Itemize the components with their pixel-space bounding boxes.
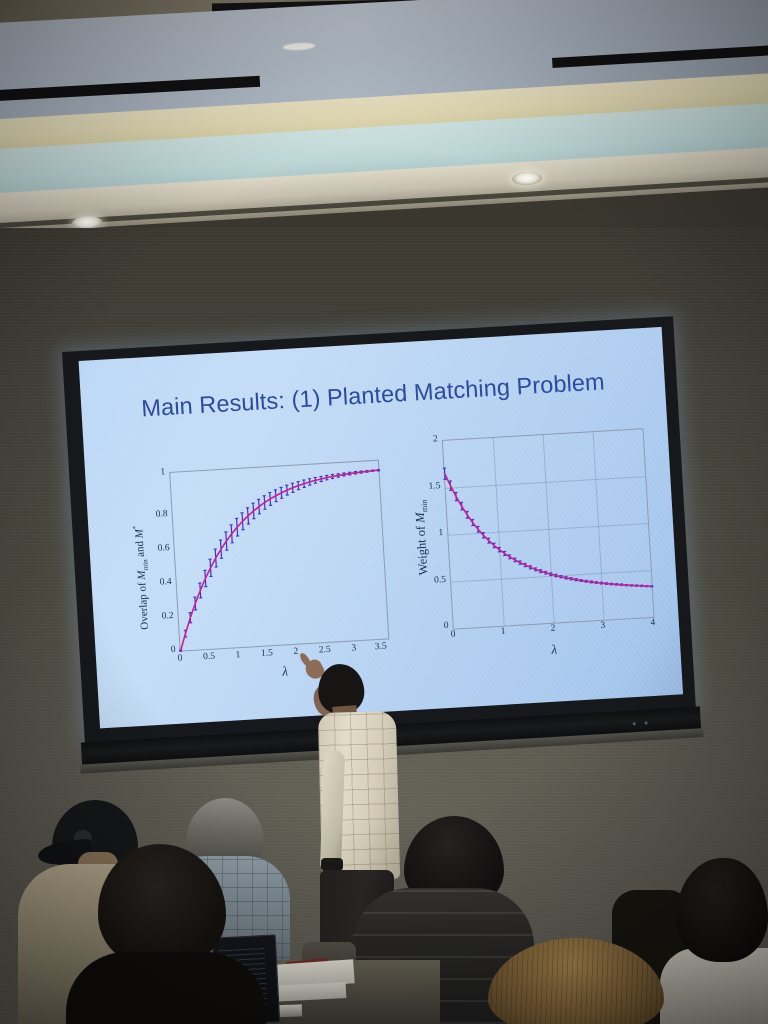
chart-right-ytick-15: 1.5 [414, 481, 441, 493]
chart-right-ytick-05: 0.5 [420, 575, 447, 587]
ylabel-text-a: Overlap of [136, 582, 151, 630]
chart-left-ytick-02: 0.2 [147, 611, 174, 623]
screen-bezel: Main Results: (1) Planted Matching Probl… [62, 316, 696, 743]
chart-left-xtick-0: 0 [168, 653, 193, 664]
ylabel-sym-m2: M [133, 529, 146, 539]
chart-left-xtick-35: 3.5 [369, 641, 394, 652]
chart-left-ytick-1: 1 [139, 467, 166, 479]
chart-right-xtick-4: 4 [641, 617, 666, 628]
chart-left-xtick-3: 3 [342, 643, 367, 654]
chart-right-xtick-2: 2 [541, 623, 566, 634]
chart-left-plot-area [169, 460, 389, 652]
chart-left-overlap: Overlap of Mmin and M* 0 0.2 0.4 [123, 455, 398, 692]
chart-right-ytick-2: 2 [411, 434, 438, 446]
ylabel-sym-m: M [413, 512, 428, 523]
ylabel-sub-min2: min [420, 499, 430, 512]
chart-right-plot-area [442, 428, 655, 629]
projection-screen-assembly: Main Results: (1) Planted Matching Probl… [62, 316, 697, 771]
slide-title: Main Results: (1) Planted Matching Probl… [81, 365, 666, 426]
ylabel-sub-min: min [141, 559, 150, 570]
chart-right-xtick-1: 1 [491, 626, 516, 637]
presentation-slide: Main Results: (1) Planted Matching Probl… [79, 327, 684, 728]
chart-left-xtick-05: 0.5 [197, 651, 222, 662]
audience-bushy-hair-body [66, 952, 266, 1024]
chart-left-ytick-06: 0.6 [143, 543, 170, 555]
lecture-hall-photo: Main Results: (1) Planted Matching Probl… [0, 0, 768, 1024]
presenter-lowered-arm [320, 750, 345, 871]
chart-right-xlabel: λ [454, 636, 655, 664]
chart-right-xtick-0: 0 [441, 629, 466, 640]
ylabel-sup-star: * [131, 526, 139, 530]
chart-left-ytick-04: 0.4 [145, 577, 172, 589]
chart-right-curve [443, 429, 654, 628]
audience-curly-hair-head [676, 858, 768, 962]
chart-left-xtick-25: 2.5 [313, 644, 338, 655]
chart-right-ytick-1: 1 [417, 528, 444, 540]
chart-right-xtick-3: 3 [591, 620, 616, 631]
chart-left-curve [170, 461, 388, 651]
chart-left-xtick-15: 1.5 [255, 648, 280, 659]
chart-left-ytick-08: 0.8 [141, 509, 168, 521]
chart-left-xtick-1: 1 [226, 650, 251, 661]
ceiling [0, 0, 768, 250]
chart-right-weight: Weight of Mmin [402, 424, 663, 676]
